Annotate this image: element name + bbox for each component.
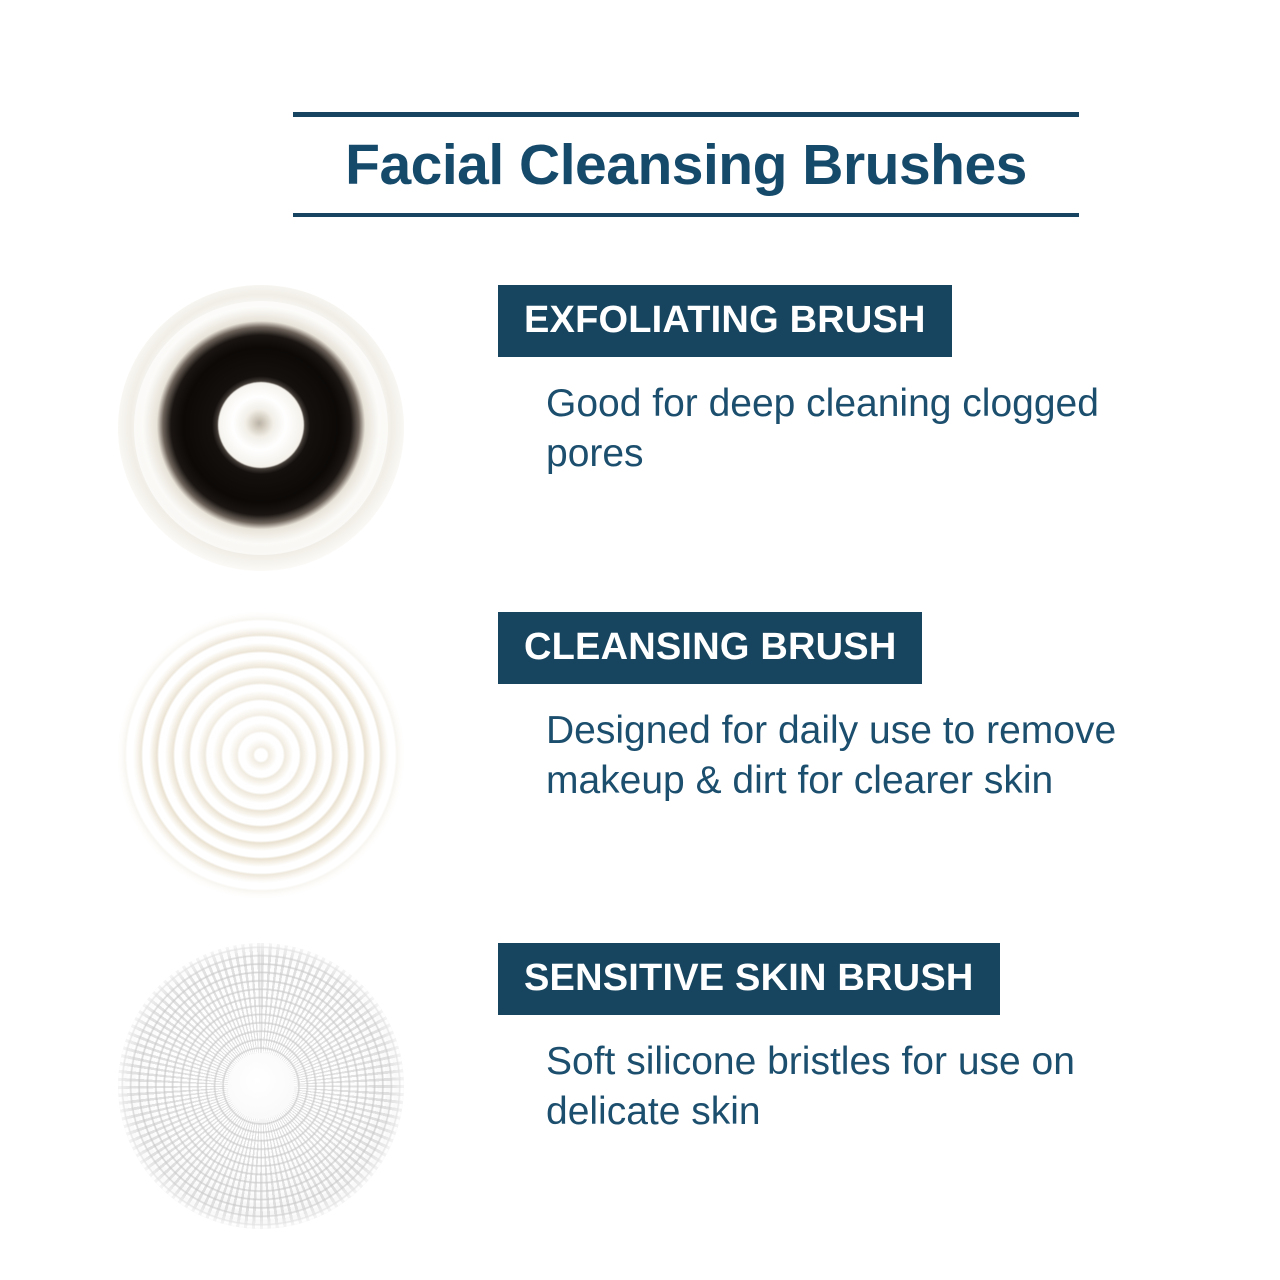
banner-sensitive-skin-brush: SENSITIVE SKIN BRUSH — [498, 943, 1000, 1015]
exfoliating-brush-disc — [118, 285, 404, 571]
brush-center-core — [218, 382, 304, 468]
sensitive-skin-text-column: SENSITIVE SKIN BRUSH Soft silicone brist… — [498, 943, 1196, 1137]
bristle-highlight — [118, 612, 404, 898]
title-block: Facial Cleansing Brushes — [293, 112, 1079, 217]
title-rule-bottom — [293, 213, 1079, 217]
sensitive-skin-brush-image — [118, 943, 404, 1229]
silicone-rim-highlight — [118, 943, 404, 1229]
cleansing-brush-disc — [118, 612, 404, 898]
description-exfoliating-brush: Good for deep cleaning clogged pores — [546, 379, 1196, 479]
page-title: Facial Cleansing Brushes — [293, 117, 1079, 213]
description-cleansing-brush: Designed for daily use to remove makeup … — [546, 706, 1216, 806]
infographic-page: Facial Cleansing Brushes EXFOLIATING BRU… — [0, 0, 1280, 1280]
exfoliating-brush-image — [118, 285, 404, 571]
banner-exfoliating-brush: EXFOLIATING BRUSH — [498, 285, 952, 357]
exfoliating-text-column: EXFOLIATING BRUSH Good for deep cleaning… — [498, 285, 1196, 479]
silicone-brush-disc — [118, 943, 404, 1229]
description-sensitive-skin-brush: Soft silicone bristles for use on delica… — [546, 1037, 1196, 1137]
cleansing-brush-image — [118, 612, 404, 898]
banner-cleansing-brush: CLEANSING BRUSH — [498, 612, 922, 684]
cleansing-text-column: CLEANSING BRUSH Designed for daily use t… — [498, 612, 1216, 806]
